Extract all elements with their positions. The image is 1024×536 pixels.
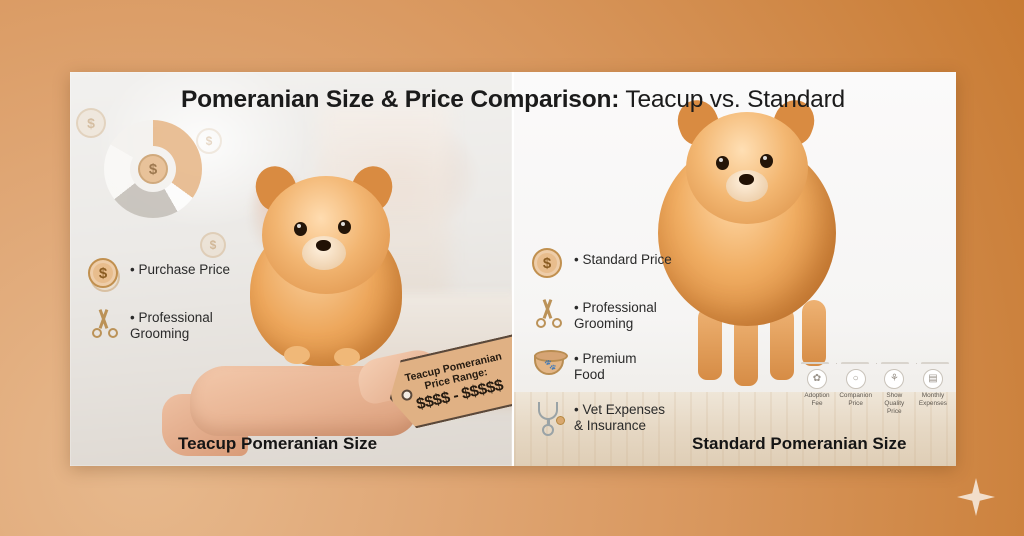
coin-icon-float-2: $: [196, 128, 222, 154]
left-bullet-list: $ Purchase Price Professional Grooming: [88, 258, 230, 357]
chart-labels: ✿AdoptionFee○CompanionPrice⚘Show Quality…: [800, 369, 950, 416]
chart-label-text: Companion: [839, 392, 873, 400]
bar: [881, 362, 909, 364]
chart-label-text: Price: [877, 408, 911, 416]
left-caption: Teacup Pomeranian Size: [178, 434, 377, 454]
chart-bar-4: [920, 362, 950, 364]
bullet-label: Standard Price: [574, 248, 672, 268]
dog-eye-left: [716, 156, 729, 170]
right-caption: Standard Pomeranian Size: [692, 434, 906, 454]
scissors-icon: [532, 296, 566, 330]
coin-icon: $: [88, 258, 122, 292]
right-panel-standard: $ Standard Price Professional Grooming P…: [514, 72, 956, 466]
scissors-icon: [88, 306, 122, 340]
paw-icon: ✿: [807, 369, 827, 389]
chart-bars: [800, 136, 950, 364]
panel-divider: [512, 72, 514, 466]
chart-label-2: ○CompanionPrice: [839, 369, 873, 416]
title-bold: Pomeranian Size & Price Comparison:: [181, 86, 619, 113]
bullet-label-line2: Food: [574, 367, 605, 382]
chart-label-text: Expenses: [916, 400, 950, 408]
bullet-label-line1: Professional: [582, 300, 656, 315]
dollar-coin-icon: $: [138, 154, 168, 184]
trophy-icon: ⚘: [884, 369, 904, 389]
bullet-label: Purchase Price: [130, 258, 230, 278]
bullet-label-line1: Vet Expenses: [582, 402, 665, 417]
dog-nose: [739, 174, 754, 185]
page-title: Pomeranian Size & Price Comparison: Teac…: [70, 86, 956, 114]
dog-eye-right: [760, 154, 773, 168]
chart-label-text: Price: [839, 400, 873, 408]
dog-head: [262, 176, 390, 294]
bullet-label-line2: & Insurance: [574, 418, 646, 433]
bullet-label-line2: Grooming: [130, 326, 189, 341]
left-panel-teacup: $ $ $ $ $ $ Purchase Price: [70, 72, 512, 466]
chart-bar-1: [800, 362, 830, 364]
chart-bar-3: [880, 362, 910, 364]
infographic-card: $ $ $ $ $ $ Purchase Price: [70, 72, 956, 466]
donut-chart: $: [104, 120, 202, 218]
title-regular: Teacup vs. Standard: [619, 86, 845, 113]
bullet-label-line2: Grooming: [574, 316, 633, 331]
dog-eye-right: [338, 220, 351, 234]
chart-label-text: Adoption: [800, 392, 834, 400]
chart-label-text: Fee: [800, 400, 834, 408]
chart-label-text: Show Quality: [877, 392, 911, 408]
list-item: Professional Grooming: [532, 296, 672, 333]
list-item: $ Purchase Price: [88, 258, 230, 292]
chart-tick: [916, 363, 918, 364]
bullet-label-line1: Professional: [138, 310, 212, 325]
chart-label-3: ⚘Show QualityPrice: [877, 369, 911, 416]
teacup-pomeranian-photo: [228, 160, 424, 370]
dog-nose: [316, 240, 331, 251]
chart-label-4: ▤MonthlyExpenses: [916, 369, 950, 416]
wallet-icon: ▤: [923, 369, 943, 389]
cost-bar-chart: ✿AdoptionFee○CompanionPrice⚘Show Quality…: [800, 124, 950, 424]
list-item: Premium Food: [532, 347, 672, 384]
coin-icon-float-3: $: [200, 232, 226, 258]
chart-label-text: Monthly: [916, 392, 950, 400]
bar: [801, 362, 829, 364]
bar: [841, 362, 869, 364]
chart-bar-2: [840, 362, 870, 364]
bullet-label-line1: Premium: [582, 351, 636, 366]
sparkle-icon: [957, 478, 995, 516]
stethoscope-icon: [532, 398, 566, 432]
right-bullet-list: $ Standard Price Professional Grooming P…: [532, 248, 672, 449]
chart-tick: [876, 363, 878, 364]
dog-bowl-icon: [532, 347, 566, 381]
list-item: $ Standard Price: [532, 248, 672, 282]
chart-tick: [836, 363, 838, 364]
coin-icon: $: [532, 248, 566, 282]
person-icon: ○: [846, 369, 866, 389]
list-item: Professional Grooming: [88, 306, 230, 343]
dog-eye-left: [294, 222, 307, 236]
bar: [921, 362, 949, 364]
dog-head: [686, 112, 808, 224]
list-item: Vet Expenses & Insurance: [532, 398, 672, 435]
tag-hole: [400, 388, 413, 401]
chart-label-1: ✿AdoptionFee: [800, 369, 834, 416]
